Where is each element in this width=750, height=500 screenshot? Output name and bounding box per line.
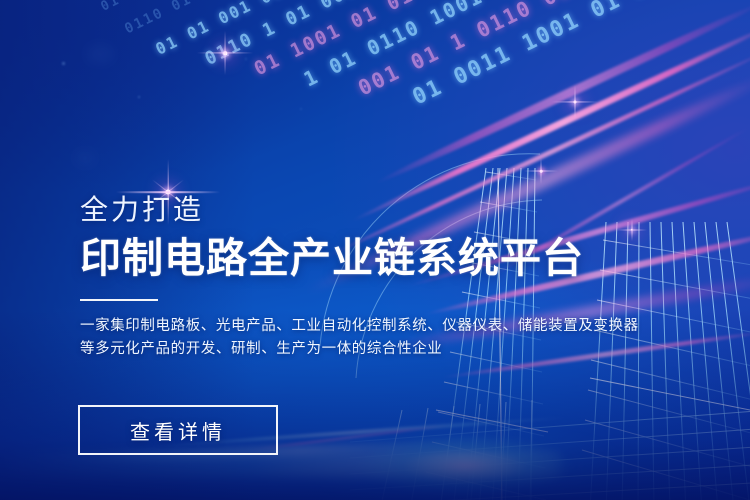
- hero-subcopy: 一家集印制电路板、光电产品、工业自动化控制系统、仪器仪表、储能装置及变换器 等多…: [80, 315, 680, 361]
- hero-subcopy-line-2: 等多元化产品的开发、研制、生产为一体的综合性企业: [80, 338, 680, 361]
- view-details-button[interactable]: 查看详情: [78, 405, 278, 455]
- dust-particle: [138, 96, 140, 98]
- hero-banner: 01 001 10 01 1001 01 0110 1 001 01 1 011…: [0, 0, 750, 500]
- dust-particle: [86, 44, 114, 64]
- hero-headline: 印制电路全产业链系统平台: [80, 236, 680, 280]
- hero-subcopy-line-1: 一家集印制电路板、光电产品、工业自动化控制系统、仪器仪表、储能装置及变换器: [80, 315, 680, 338]
- hero-copy-block: 全力打造 印制电路全产业链系统平台 一家集印制电路板、光电产品、工业自动化控制系…: [80, 196, 680, 361]
- hero-divider: [80, 299, 158, 301]
- dust-particle: [62, 62, 65, 65]
- hero-eyebrow: 全力打造: [80, 196, 680, 224]
- dust-particle: [245, 58, 247, 60]
- dust-particle: [74, 150, 96, 166]
- dust-particle: [300, 108, 302, 110]
